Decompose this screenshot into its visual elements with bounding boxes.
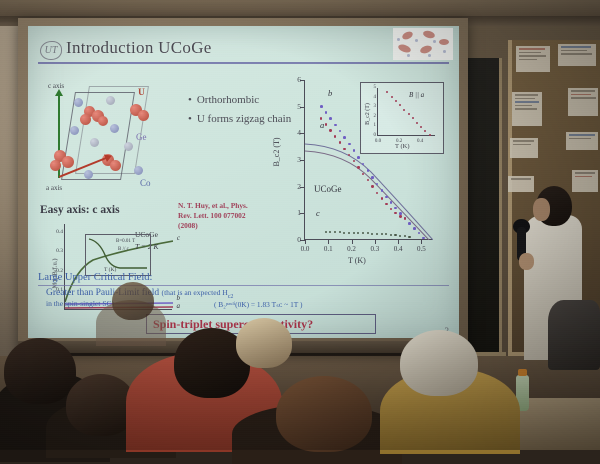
chart-xtick-label: 0.5 [411,245,431,253]
chart-xtick [375,239,376,244]
wall-poster [572,170,598,192]
chart-data-point [371,176,374,179]
audience-member [112,282,154,320]
audience-member [276,376,372,452]
chart-xtick-label: 0.3 [365,245,385,253]
chart-data-point [329,129,331,131]
chart-ytick-label: 2 [287,182,301,191]
wall-poster [558,44,596,66]
inset-xlabel: T (K) [395,143,410,150]
chart-data-point [353,232,355,234]
chart-xtick [328,239,329,244]
audience-member [236,318,292,368]
chart-xtick-label: 0.2 [342,245,362,253]
inset-data-point [403,109,405,111]
chart-ylabel: B_c2 (T) [272,137,281,166]
conclusion-line-3: in the spin-singlet SC) [46,299,114,308]
inset-plot-area: 0.00.20.4012345 [377,88,435,136]
easy-series-label-c: c [177,234,180,242]
easy-ytick-label: 0.4 [51,229,63,235]
chart-data-point [381,189,384,192]
easy-axis-inset: B=0.01 T B // c T (K) [85,234,151,276]
presentation-slide: UT Introduction UCoGe c axis [28,26,459,338]
chart-data-point [343,136,346,139]
audience-member [4,338,76,404]
chart-data-point [371,185,373,187]
chart-data-point [348,232,350,234]
atom-label-u: U [138,88,145,98]
chart-data-point [399,235,401,237]
pauli-limit-formula: ( B₂ᵖᵃᵘˡⁱ(0K) = 1.83 Tₛᴄ ~ 1T ) [214,300,302,309]
bag-object [548,300,600,370]
chart-ytick-label: 6 [287,75,301,84]
chart-data-point [385,196,388,199]
chart-data-point [325,123,327,125]
audience-member [400,330,478,396]
presenter-hand [519,253,534,270]
chart-data-point [381,233,383,235]
chart-xtick-label: 0.1 [318,245,338,253]
chart-ytick-label: 4 [287,128,301,137]
chart-data-point [394,234,396,236]
chart-xtick-label: 0.0 [295,245,315,253]
chart-xtick-label: 0.4 [388,245,408,253]
atom-label-co: Co [140,178,151,188]
university-logo-icon: UT [40,41,62,60]
chart-data-point [390,234,392,236]
inset-data-point [412,117,414,119]
inset-annotation: B || a [409,91,424,99]
pauli-limit-subscript: c2 [228,294,234,300]
chart-data-point [408,222,411,225]
easy-axis-heading: Easy axis: c axis [40,204,120,216]
callout-text: Spin-triplet superconductivity? [153,317,313,332]
chart-data-point [325,231,327,233]
inset-data-point [395,100,397,102]
inset-data-point [424,130,426,132]
presenter-face [533,198,550,221]
molecule-graphic [393,28,453,60]
conclusion-divider [38,285,449,286]
chart-data-point [325,111,328,114]
chart-data-point [381,197,383,199]
chart-data-point [353,149,356,152]
pauli-limit-note: (that is an expected H [162,288,228,297]
chart-inset: 0.00.20.4012345 B || a T (K) B_c2 (T) [360,82,444,154]
series-label-b: b [328,88,332,98]
chart-data-point [404,217,406,219]
lecture-hall-scene: UT Introduction UCoGe c axis [0,0,600,450]
chart-data-point [334,124,337,127]
chart-xtick [421,239,422,244]
chart-data-point [348,143,351,146]
chart-xtick [352,239,353,244]
chart-data-point [357,166,359,168]
slide-title: Introduction UCoGe [66,38,212,58]
chart-data-point [367,169,370,172]
wall-poster [510,138,538,158]
chart-data-point [413,227,416,230]
bottle-cap [518,369,527,376]
chart-data-point [329,117,332,120]
chart-ytick-label: 1 [287,208,301,217]
inset-data-point [429,134,431,136]
inset-direction-label: B // c [118,247,129,252]
inset-ytick-label: 0 [369,133,376,138]
chart-data-point [339,141,341,143]
chart-data-point [320,105,323,108]
chart-data-point [343,148,345,150]
wall-poster [512,92,542,126]
upper-critical-field-chart: B_c2 (T) 01234560.00.10.20.30.40.5 T (K)… [274,74,450,274]
series-label-c: c [316,208,320,218]
easy-ytick-label: 0.3 [51,248,63,254]
inset-xtick-label: 0.0 [371,139,385,144]
inset-data-point [399,104,401,106]
a-axis-label: a axis [46,184,62,192]
chart-data-point [357,156,360,159]
wall-poster [508,176,534,192]
inset-data-point [391,96,393,98]
reference-citation: N. T. Huy, et al., Phys. Rev. Lett. 100 … [178,201,258,231]
crystal-structure-figure: c axis a axis U Ge [40,84,158,196]
chart-ytick-label: 5 [287,102,301,111]
chart-data-point [408,236,410,238]
inset-data-point [420,126,422,128]
inset-data-point [416,122,418,124]
chart-xtick [305,239,306,244]
wall-poster [566,132,598,150]
easy-series-label-a: a [177,302,181,310]
chart-xlabel: T (K) [348,256,366,265]
chart-ytick-label: 0 [287,235,301,244]
wall-poster [568,88,598,116]
inset-field-label: B=0.01 T [116,239,135,244]
series-label-a: a [320,120,324,130]
title-divider [38,62,449,64]
wall-poster [516,46,550,72]
inset-ylabel: B_c2 (T) [365,103,371,125]
chart-data-point [385,203,387,205]
inset-ytick-label: 5 [369,85,376,90]
chart-data-point [422,237,425,240]
chart-data-point [399,215,401,217]
inset-xtick-label: 0.4 [413,139,427,144]
inset-data-point [408,113,410,115]
atom-label-ge: Ge [136,132,147,142]
chart-xtick [398,239,399,244]
inset-ytick-label: 4 [369,95,376,100]
chart-compound-label: UCoGe [314,184,342,194]
blackboard [466,58,502,358]
chart-data-point [376,233,378,235]
inset-data-point [386,91,388,93]
chart-ytick-label: 3 [287,155,301,164]
